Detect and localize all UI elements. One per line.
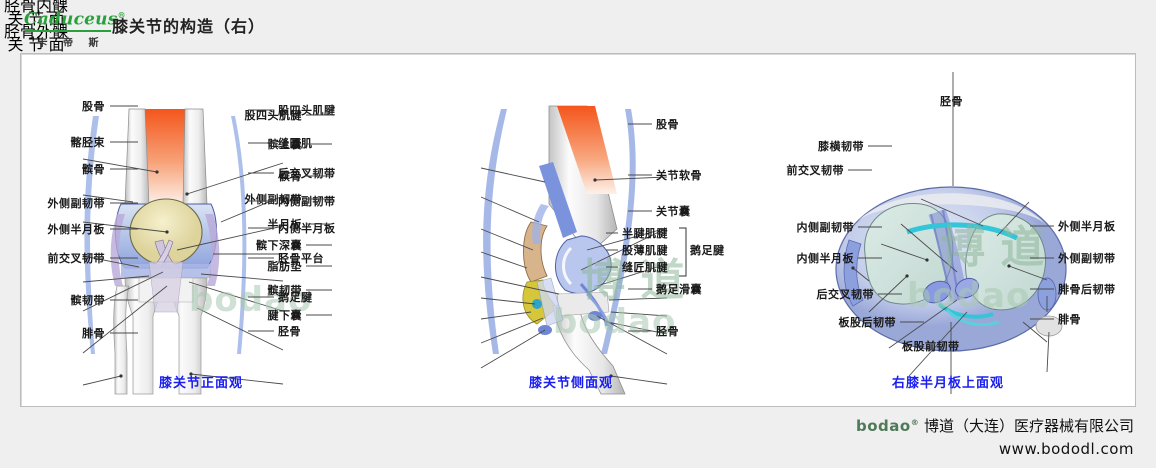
label-pes-bursa-f2: 鹅足滑囊 — [656, 284, 702, 296]
label-posterior-meniscofemoral-f3: 板股后韧带 — [812, 317, 896, 329]
label-deep-infrapatellar-bursa-f2: 髌下深囊 — [218, 240, 302, 252]
label-femur-f1: 股骨 — [25, 101, 105, 113]
label-iliotibial-band-f1: 髂胫束 — [25, 137, 105, 149]
label-semitendinosus-tendon-f2: 半腱肌腱 — [622, 228, 668, 240]
label-patella-f1: 髌骨 — [25, 164, 105, 176]
illustration-frame: bodao 膝关节正面观 — [20, 53, 1136, 407]
footer-company-name: 博道（大连）医疗器械有限公司 — [924, 417, 1134, 435]
figure-caption-lateral: 膝关节侧面观 — [381, 372, 761, 391]
label-meniscus-f2: 半月板 — [218, 219, 302, 231]
label-patellar-ligament-f1: 髌韧带 — [25, 295, 105, 307]
logo-chinese-name: 卡 帝 斯 — [24, 34, 112, 49]
label-lateral-meniscus-f3: 外侧半月板 — [1058, 221, 1116, 233]
label-acl-f1: 前交叉韧带 — [25, 253, 105, 265]
caduceus-logo: Caduceus® 卡 帝 斯 — [24, 6, 112, 46]
label-pcl-f3: 后交叉韧带 — [790, 289, 874, 301]
label-fibula-f1: 腓骨 — [25, 328, 105, 340]
label-lcl-f3: 外侧副韧带 — [1058, 253, 1116, 265]
page-title: 膝关节的构造（右） — [112, 13, 265, 37]
footer-brand: bodao — [856, 417, 911, 435]
lateral-view-artwork — [381, 54, 761, 406]
label-gracilis-tendon-f2: 股薄肌腱 — [622, 245, 668, 257]
label-fat-pad-f2: 脂肪垫 — [218, 261, 302, 273]
label-fibula-f3: 腓骨 — [1058, 314, 1081, 326]
label-tibia-f3: 胫骨 — [940, 96, 963, 108]
label-tibia-f1: 胫骨 — [278, 326, 301, 338]
figure-caption-meniscus: 右膝半月板上面观 — [761, 372, 1135, 391]
page-header: Caduceus® 卡 帝 斯 膝关节的构造（右） — [0, 0, 1156, 52]
label-acl-f3: 前交叉韧带 — [760, 165, 844, 177]
logo-divider — [25, 30, 111, 32]
label-suprapatellar-bursa-f2: 髌上囊 — [218, 139, 302, 151]
page-footer: bodao® 博道（大连）医疗器械有限公司 www.bododl.com — [856, 415, 1134, 458]
label-patellar-ligament-f2: 髌韧带 — [218, 285, 302, 297]
label-quadriceps-tendon-f2: 股四头肌腱 — [218, 110, 302, 122]
label-transverse-ligament-f3: 膝横韧带 — [780, 141, 864, 153]
footer-registered-mark: ® — [911, 418, 920, 427]
logo-text: Caduceus — [24, 10, 118, 30]
pes-anserinus-bracket — [678, 226, 688, 278]
label-lcl-f1: 外侧副韧带 — [25, 198, 105, 210]
label-lateral-meniscus-f1: 外侧半月板 — [25, 224, 105, 236]
figure-lateral-view: 博 道 bodao 膝关节侧面观 — [381, 54, 761, 406]
label-sartorius-tendon-f2: 缝匠肌腱 — [622, 262, 668, 274]
label-lcl-f2: 外侧副韧带 — [218, 194, 302, 206]
label-patella-f2: 髌骨 — [218, 171, 302, 183]
footer-website: www.bododl.com — [856, 440, 1134, 458]
label-pes-anserinus-f2: 鹅足腱 — [690, 245, 725, 257]
label-femur-f2: 股骨 — [656, 119, 679, 131]
label-tibia-f2: 胫骨 — [656, 326, 679, 338]
label-posterior-fibular-ligament-f3: 腓骨后韧带 — [1058, 284, 1116, 296]
logo-wordmark: Caduceus® — [24, 6, 126, 30]
label-medial-meniscus-f3: 内侧半月板 — [770, 253, 854, 265]
footer-company-line: bodao® 博道（大连）医疗器械有限公司 — [856, 415, 1134, 436]
label-articular-cartilage-f2: 关节软骨 — [656, 170, 702, 182]
label-joint-capsule-f2: 关节囊 — [656, 206, 691, 218]
label-mcl-f3: 内侧副韧带 — [770, 222, 854, 234]
label-subtendinous-bursa-f2: 腱下囊 — [218, 310, 302, 322]
label-anterior-meniscofemoral-f3: 板股前韧带 — [902, 341, 960, 353]
figure-caption-front: 膝关节正面观 — [21, 372, 381, 391]
